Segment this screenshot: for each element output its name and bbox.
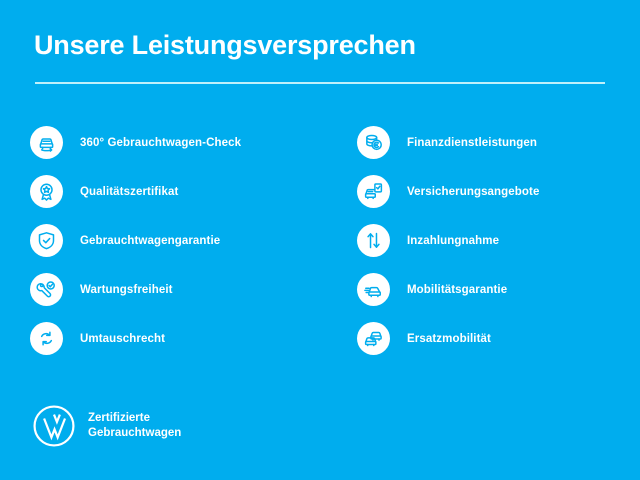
list-item[interactable]: Finanzdienstleistungen	[357, 118, 640, 167]
list-item[interactable]: Qualitätszertifikat	[30, 167, 320, 216]
title-divider	[35, 82, 605, 84]
benefits-column-right: Finanzdienstleistungen Versicherungsange…	[320, 118, 640, 363]
car-document-check-icon	[357, 175, 390, 208]
footer-text: Zertifizierte Gebrauchtwagen	[88, 411, 181, 441]
list-item[interactable]: Umtauschrecht	[30, 314, 320, 363]
car-motion-icon	[357, 273, 390, 306]
slide-root: Unsere Leistungsversprechen 360° G	[0, 0, 640, 480]
list-item[interactable]: Mobilitätsgarantie	[357, 265, 640, 314]
list-item-label: Finanzdienstleistungen	[407, 137, 537, 149]
shield-check-icon	[30, 224, 63, 257]
list-item-label: 360° Gebrauchtwagen-Check	[80, 137, 241, 149]
list-item-label: Versicherungsangebote	[407, 186, 539, 198]
coins-euro-icon	[357, 126, 390, 159]
volkswagen-logo	[32, 404, 76, 448]
list-item[interactable]: Gebrauchtwagengarantie	[30, 216, 320, 265]
list-item[interactable]: Versicherungsangebote	[357, 167, 640, 216]
benefits-columns: 360° Gebrauchtwagen-Check Qualitätszerti…	[0, 118, 640, 363]
footer-line-2: Gebrauchtwagen	[88, 427, 181, 439]
footer-line-1: Zertifizierte	[88, 412, 150, 424]
award-rosette-icon	[30, 175, 63, 208]
list-item[interactable]: Inzahlungnahme	[357, 216, 640, 265]
list-item-label: Ersatzmobilität	[407, 333, 491, 345]
list-item-label: Qualitätszertifikat	[80, 186, 178, 198]
list-item[interactable]: Ersatzmobilität	[357, 314, 640, 363]
two-cars-icon	[357, 322, 390, 355]
list-item-label: Gebrauchtwagengarantie	[80, 235, 220, 247]
list-item-label: Inzahlungnahme	[407, 235, 499, 247]
list-item-label: Wartungsfreiheit	[80, 284, 173, 296]
page-title: Unsere Leistungsversprechen	[34, 30, 416, 61]
list-item[interactable]: Wartungsfreiheit	[30, 265, 320, 314]
exchange-arrows-icon	[30, 322, 63, 355]
wrench-check-icon	[30, 273, 63, 306]
list-item-label: Mobilitätsgarantie	[407, 284, 507, 296]
list-item-label: Umtauschrecht	[80, 333, 165, 345]
benefits-column-left: 360° Gebrauchtwagen-Check Qualitätszerti…	[0, 118, 320, 363]
car-360-check-icon	[30, 126, 63, 159]
footer-branding: Zertifizierte Gebrauchtwagen	[32, 404, 181, 448]
arrows-up-down-icon	[357, 224, 390, 257]
list-item[interactable]: 360° Gebrauchtwagen-Check	[30, 118, 320, 167]
